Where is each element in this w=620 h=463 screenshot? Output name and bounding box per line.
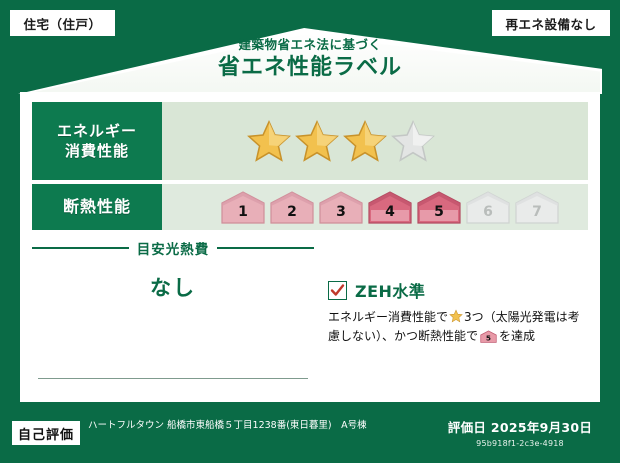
energy-performance-header: エネルギー 消費性能 <box>32 102 162 180</box>
label-footer: 自己評価 ハートフルタウン 船橋市東船橋５丁目1238番(東日暮里) A号棟 評… <box>0 407 620 463</box>
star-rating <box>246 118 436 164</box>
estimated-utility-cost-value: なし <box>32 272 314 302</box>
energy-performance-label: 住宅（住戸） 再エネ設備なし 建築物省エネ法に基づく 省エネ性能ラベル エネルギ… <box>0 0 620 463</box>
evaluation-date: 評価日 2025年9月30日 <box>430 417 610 436</box>
star-icon-inline <box>449 309 463 323</box>
cost-rule-right <box>217 247 314 249</box>
label-title-block: 建築物省エネ法に基づく 省エネ性能ラベル <box>0 38 620 81</box>
cost-section-divider <box>38 378 308 379</box>
star-icon-empty-4 <box>390 118 436 164</box>
insulation-levels-area: 1 2 3 4 <box>162 184 588 230</box>
main-panel: エネルギー 消費性能 <box>20 92 600 402</box>
zeh-section: ZEH水準 エネルギー消費性能で3つ（太陽光発電は考慮しない）、かつ断熱性能で5… <box>328 278 590 345</box>
house-icon-level-6: 6 <box>465 190 511 224</box>
star-icon-filled-1 <box>246 118 292 164</box>
energy-label-line2: 消費性能 <box>65 141 129 161</box>
self-evaluation-badge: 自己評価 <box>12 421 80 445</box>
house-level-text-2: 2 <box>287 205 297 224</box>
cost-rule-left <box>32 247 129 249</box>
insulation-label: 断熱性能 <box>63 196 131 218</box>
estimated-utility-cost-header: 目安光熱費 <box>32 240 314 256</box>
house-icon-level-1: 1 <box>220 190 266 224</box>
label-subtitle: 建築物省エネ法に基づく <box>0 38 620 52</box>
zeh-desc-part2: 3つ（太陽光発電 <box>464 310 556 324</box>
zeh-checkbox[interactable] <box>328 281 347 300</box>
evaluation-info: 評価日 2025年9月30日 95b918f1-2c3e-4918 <box>430 417 610 448</box>
house-level-text-7: 7 <box>532 205 542 224</box>
star-icon-filled-2 <box>294 118 340 164</box>
house-icon-level-3: 3 <box>318 190 364 224</box>
energy-performance-stars-area <box>162 102 588 180</box>
zeh-title: ZEH水準 <box>355 278 425 302</box>
house-icon-inline-level5: 5 <box>480 330 497 343</box>
house-icon-level-5: 5 <box>416 190 462 224</box>
house-level-text-5: 5 <box>434 205 444 224</box>
badge-renewable-energy: 再エネ設備なし <box>492 10 610 36</box>
insulation-performance-row: 断熱性能 1 2 3 <box>32 184 588 230</box>
zeh-desc-part4: を達成 <box>499 329 535 343</box>
zeh-header: ZEH水準 <box>328 278 590 302</box>
house-icon-level-4: 4 <box>367 190 413 224</box>
house-level-text-4: 4 <box>385 205 395 224</box>
house-icon-level-7: 7 <box>514 190 560 224</box>
energy-label-line1: エネルギー <box>57 121 137 141</box>
badge-building-type: 住宅（住戸） <box>10 10 115 36</box>
svg-text:5: 5 <box>486 333 491 342</box>
estimated-utility-cost-title: 目安光熱費 <box>129 238 218 258</box>
evaluation-id: 95b918f1-2c3e-4918 <box>430 439 610 448</box>
label-title: 省エネ性能ラベル <box>0 54 620 82</box>
house-icon-level-2: 2 <box>269 190 315 224</box>
house-level-text-3: 3 <box>336 205 346 224</box>
zeh-description: エネルギー消費性能で3つ（太陽光発電は考慮しない）、かつ断熱性能で5を達成 <box>328 308 590 345</box>
property-address: ハートフルタウン 船橋市東船橋５丁目1238番(東日暮里) A号棟 <box>88 419 428 433</box>
insulation-level-scale: 1 2 3 4 <box>220 190 560 224</box>
star-icon-filled-3 <box>342 118 388 164</box>
house-level-text-6: 6 <box>483 205 493 224</box>
house-level-text-1: 1 <box>238 205 248 224</box>
check-icon <box>330 283 345 298</box>
insulation-performance-header: 断熱性能 <box>32 184 162 230</box>
zeh-desc-part1: エネルギー消費性能で <box>328 310 448 324</box>
energy-performance-row: エネルギー 消費性能 <box>32 102 588 180</box>
